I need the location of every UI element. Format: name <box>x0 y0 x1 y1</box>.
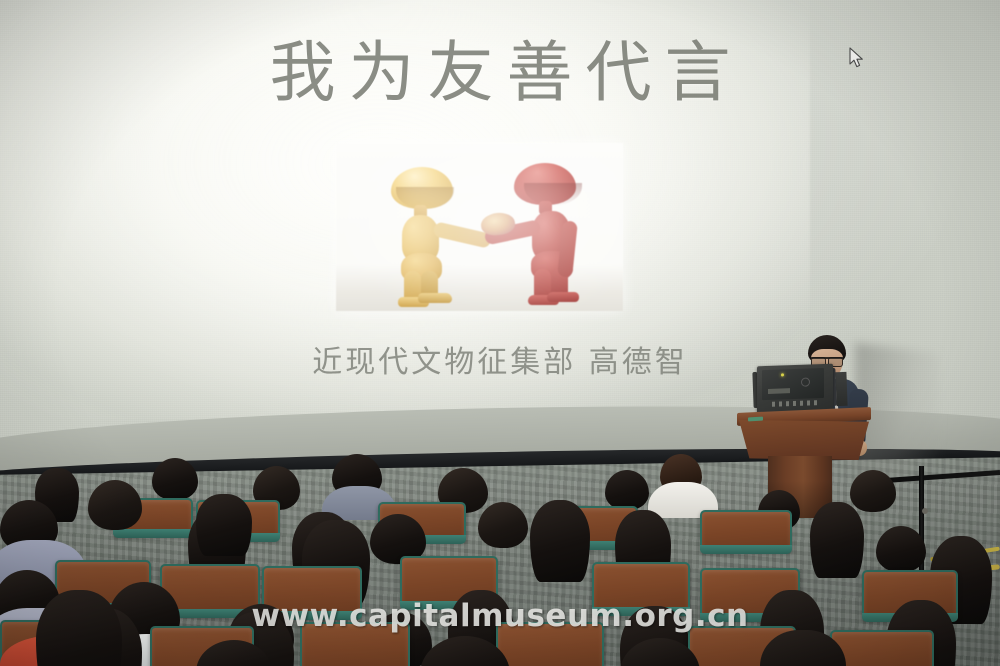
audience-head <box>876 526 926 572</box>
monitor-screen-highlight <box>768 388 790 394</box>
audience-head <box>530 500 590 582</box>
gold-figure-head <box>391 167 453 209</box>
monitor-screen <box>762 368 824 400</box>
red-figure-foot-right <box>547 292 579 302</box>
slide-image-handshake <box>336 143 623 311</box>
red-figure-head <box>514 163 576 205</box>
gold-figure-foot-right <box>418 293 452 303</box>
red-head-shading <box>524 183 582 205</box>
red-figure <box>506 163 590 303</box>
podium-monitor <box>757 364 833 414</box>
audience-head <box>152 458 198 500</box>
audience-head <box>478 502 528 548</box>
presentation-photo-scene: 我为友善代言 <box>0 0 1000 666</box>
monitor-button-row <box>772 400 819 407</box>
cursor-icon <box>849 47 865 69</box>
podium-sticker <box>748 417 763 422</box>
audience-head <box>850 470 896 512</box>
gold-figure <box>388 167 472 305</box>
audience-head <box>810 502 864 578</box>
auditorium-seat[interactable] <box>700 510 792 552</box>
audience-head <box>196 494 252 556</box>
monitor-side-panel <box>835 372 847 406</box>
watermark: www.capitalmuseum.org.cn <box>0 598 1000 634</box>
audience-head <box>605 470 649 510</box>
audience-head <box>88 480 142 530</box>
